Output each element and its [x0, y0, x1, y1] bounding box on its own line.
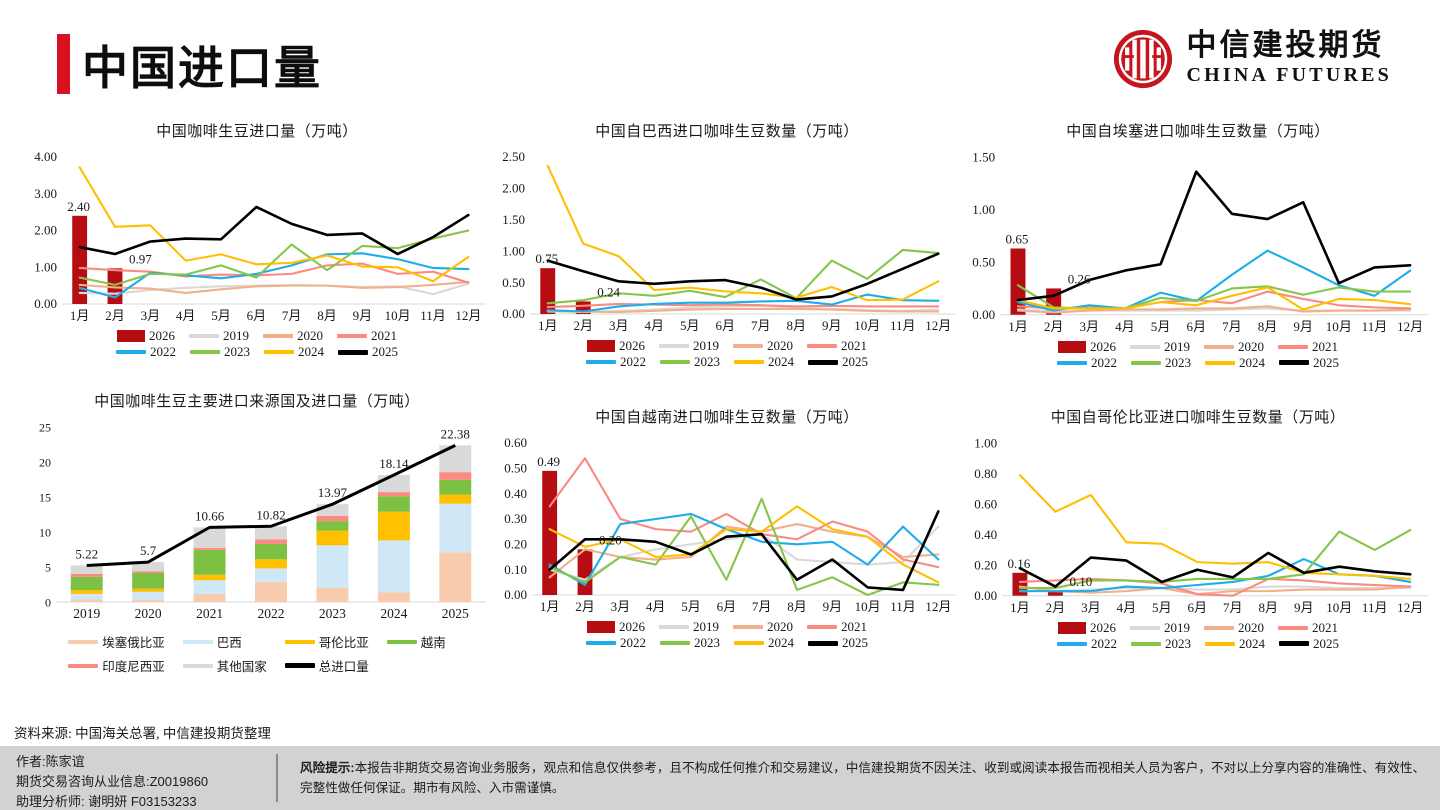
svg-text:12月: 12月 — [1397, 600, 1423, 615]
legend-item-2021[interactable]: 2021 — [807, 338, 867, 354]
svg-text:8月: 8月 — [787, 599, 807, 614]
svg-text:12月: 12月 — [925, 599, 951, 614]
svg-text:12月: 12月 — [455, 308, 481, 323]
legend-label: 2023 — [694, 635, 720, 651]
svg-text:0.20: 0.20 — [599, 532, 622, 547]
logo-text-cn: 中信建投期货 — [1186, 30, 1384, 62]
svg-text:2月: 2月 — [1044, 319, 1064, 334]
svg-text:0.10: 0.10 — [1069, 574, 1092, 589]
legend-item-brazil[interactable]: 巴西 — [183, 632, 267, 651]
svg-text:0.40: 0.40 — [504, 486, 527, 501]
chart-svg: 0.000.200.400.600.801.000.160.101月2月3月4月… — [962, 429, 1434, 620]
legend-item-2026[interactable]: 2026 — [1058, 339, 1116, 355]
chart-title: 中国自巴西进口咖啡生豆数量（万吨） — [492, 120, 962, 141]
legend-swatch-2020 — [733, 625, 763, 629]
legend-item-2022[interactable]: 2022 — [1057, 355, 1117, 371]
legend-label: 2020 — [1238, 339, 1264, 355]
legend-swatch-2021 — [337, 334, 367, 338]
legend-item-2020[interactable]: 2020 — [1204, 620, 1264, 636]
legend-swatch-2025 — [338, 350, 368, 355]
legend-swatch-ethiopia — [68, 640, 98, 644]
legend-swatch-2024 — [264, 350, 294, 354]
legend-label: 2025 — [842, 354, 868, 370]
svg-text:0.20: 0.20 — [504, 537, 527, 552]
svg-text:10月: 10月 — [1326, 319, 1352, 334]
legend-swatch-2021 — [1278, 345, 1308, 349]
legend-swatch-2024 — [734, 360, 764, 364]
svg-text:3.00: 3.00 — [34, 186, 57, 201]
charts-grid: 中国咖啡生豆进口量（万吨） 0.001.002.003.004.002.400.… — [0, 118, 1440, 710]
svg-text:0.16: 0.16 — [1007, 556, 1030, 571]
svg-text:1.50: 1.50 — [502, 212, 525, 227]
svg-text:6月: 6月 — [717, 599, 737, 614]
svg-text:8月: 8月 — [1258, 319, 1278, 334]
chart-imports-from-ethiopia: 中国自埃塞进口咖啡生豆数量（万吨） 0.000.501.001.500.650.… — [962, 120, 1434, 388]
svg-text:13.97: 13.97 — [318, 485, 348, 500]
svg-text:1月: 1月 — [1010, 600, 1030, 615]
svg-text:9月: 9月 — [1293, 319, 1313, 334]
svg-text:2021: 2021 — [196, 606, 223, 621]
legend-swatch-2020 — [1204, 626, 1234, 630]
svg-text:5月: 5月 — [1151, 319, 1171, 334]
svg-text:0.80: 0.80 — [974, 466, 997, 481]
legend-item-2020[interactable]: 2020 — [263, 328, 323, 344]
svg-text:3月: 3月 — [609, 318, 629, 333]
svg-text:6月: 6月 — [715, 318, 735, 333]
page-title: 中国进口量 — [82, 32, 322, 98]
svg-text:10月: 10月 — [855, 599, 881, 614]
legend-label: 2020 — [1238, 620, 1264, 636]
svg-text:5月: 5月 — [680, 318, 700, 333]
legend-item-2019[interactable]: 2019 — [1130, 620, 1190, 636]
legend-label: 巴西 — [217, 632, 242, 651]
svg-text:4月: 4月 — [644, 318, 664, 333]
svg-text:4月: 4月 — [1117, 600, 1137, 615]
svg-text:2.00: 2.00 — [502, 181, 525, 196]
legend-item-2025[interactable]: 2025 — [1279, 636, 1339, 652]
svg-text:3月: 3月 — [611, 599, 631, 614]
svg-text:0.00: 0.00 — [502, 306, 525, 321]
legend-swatch-2022 — [1057, 361, 1087, 365]
legend-swatch-2021 — [807, 344, 837, 348]
chart-plot-area: 05101520255.225.710.6610.8213.9718.1422.… — [22, 413, 492, 628]
chart-svg: 0.001.002.003.004.002.400.971月2月3月4月5月6月… — [22, 143, 492, 328]
legend-swatch-brazil — [183, 640, 213, 644]
legend-swatch-2026 — [587, 340, 615, 352]
legend-swatch-2026 — [1058, 341, 1086, 353]
svg-text:0: 0 — [45, 596, 51, 610]
legend-swatch-2026 — [587, 621, 615, 633]
svg-text:9月: 9月 — [353, 308, 373, 323]
svg-text:11月: 11月 — [1362, 319, 1388, 334]
legend-item-2022[interactable]: 2022 — [586, 635, 646, 651]
legend-item-2024[interactable]: 2024 — [264, 344, 324, 360]
svg-text:0.10: 0.10 — [504, 562, 527, 577]
legend-item-2024[interactable]: 2024 — [1205, 355, 1265, 371]
legend-item-vietnam[interactable]: 越南 — [387, 632, 446, 651]
legend-label: 2022 — [620, 635, 646, 651]
chart-plot-area: 0.000.501.001.502.002.500.750.241月2月3月4月… — [492, 143, 962, 338]
legend-swatch-others — [183, 664, 213, 668]
chart-plot-area: 0.001.002.003.004.002.400.971月2月3月4月5月6月… — [22, 143, 492, 328]
chart-imports-from-brazil: 中国自巴西进口咖啡生豆数量（万吨） 0.000.501.001.502.002.… — [492, 120, 962, 388]
legend-item-2020[interactable]: 2020 — [1204, 339, 1264, 355]
svg-text:0.50: 0.50 — [502, 275, 525, 290]
svg-text:0.49: 0.49 — [537, 454, 560, 469]
legend-item-2021[interactable]: 2021 — [1278, 620, 1338, 636]
legend-swatch-2019 — [1130, 626, 1160, 630]
chart-title: 中国咖啡生豆进口量（万吨） — [22, 120, 492, 141]
svg-text:10月: 10月 — [385, 308, 411, 323]
svg-text:10.82: 10.82 — [256, 507, 285, 522]
legend-item-2025[interactable]: 2025 — [808, 635, 868, 651]
svg-text:11月: 11月 — [890, 599, 916, 614]
chart-plot-area: 0.000.100.200.300.400.500.600.490.201月2月… — [492, 429, 962, 619]
legend-swatch-2021 — [1278, 626, 1308, 630]
legend-item-2022[interactable]: 2022 — [116, 344, 176, 360]
svg-text:4月: 4月 — [176, 308, 196, 323]
legend-label: 2021 — [1312, 620, 1338, 636]
legend-label: 哥伦比亚 — [319, 632, 369, 651]
svg-text:2025: 2025 — [442, 606, 469, 621]
legend-swatch-2026 — [1058, 622, 1086, 634]
legend-label: 2019 — [1164, 620, 1190, 636]
legend-item-2023[interactable]: 2023 — [190, 344, 250, 360]
legend-row: 2022202320242025 — [1050, 355, 1346, 371]
legend-swatch-2022 — [586, 360, 616, 364]
svg-text:12月: 12月 — [1397, 319, 1423, 334]
legend-row: 2026201920202021 — [1051, 620, 1345, 636]
svg-text:10.66: 10.66 — [195, 508, 225, 523]
legend-label: 2020 — [767, 338, 793, 354]
svg-text:2月: 2月 — [573, 318, 593, 333]
legend-label: 2022 — [1091, 355, 1117, 371]
legend-label: 2022 — [620, 354, 646, 370]
svg-text:6月: 6月 — [1188, 600, 1208, 615]
legend-item-indonesia[interactable]: 印度尼西亚 — [68, 656, 165, 675]
legend-item-2023[interactable]: 2023 — [660, 635, 720, 651]
legend-label: 2019 — [693, 619, 719, 635]
legend-row: 2026201920202021 — [580, 619, 874, 635]
risk-disclaimer: 风险提示:本报告非期货交易咨询业务服务，观点和信息仅供参考，且不构成任何推介和交… — [300, 758, 1428, 798]
legend-item-2023[interactable]: 2023 — [1131, 636, 1191, 652]
legend-item-2026[interactable]: 2026 — [587, 619, 645, 635]
svg-text:11月: 11月 — [1362, 600, 1388, 615]
svg-text:0.20: 0.20 — [974, 557, 997, 572]
legend-label: 2025 — [1313, 636, 1339, 652]
legend-item-2025[interactable]: 2025 — [1279, 355, 1339, 371]
legend-item-2023[interactable]: 2023 — [1131, 355, 1191, 371]
chart-main-origin-countries-stacked: 中国咖啡生豆主要进口来源国及进口量（万吨） 05101520255.225.71… — [22, 390, 492, 690]
legend-label: 2026 — [619, 619, 645, 635]
legend-label: 2023 — [224, 344, 250, 360]
legend-item-2022[interactable]: 2022 — [586, 354, 646, 370]
legend-label: 总进口量 — [319, 656, 369, 675]
chart-imports-from-vietnam: 中国自越南进口咖啡生豆数量（万吨） 0.000.100.200.300.400.… — [492, 406, 962, 671]
legend-swatch-2020 — [733, 344, 763, 348]
assistant-analyst: 助理分析师: 谢明妍 F03153233 — [16, 792, 208, 810]
svg-text:9月: 9月 — [1294, 600, 1314, 615]
legend-item-2026[interactable]: 2026 — [587, 338, 645, 354]
legend-swatch-2023 — [190, 350, 220, 354]
legend-label: 2025 — [372, 344, 398, 360]
svg-text:0.97: 0.97 — [129, 251, 152, 266]
svg-text:2022: 2022 — [258, 606, 285, 621]
svg-text:0.40: 0.40 — [974, 527, 997, 542]
svg-text:5: 5 — [45, 561, 51, 575]
slide-footer: 作者:陈家谊 期货交易咨询从业信息:Z0019860 助理分析师: 谢明妍 F0… — [0, 746, 1440, 810]
svg-text:1.50: 1.50 — [972, 149, 995, 164]
legend-item-ethiopia[interactable]: 埃塞俄比亚 — [68, 632, 165, 651]
svg-text:18.14: 18.14 — [379, 456, 409, 471]
citic-logo-icon — [1112, 28, 1174, 90]
legend-label: 2025 — [1313, 355, 1339, 371]
svg-text:7月: 7月 — [751, 318, 771, 333]
chart-svg: 0.000.501.001.502.002.500.750.241月2月3月4月… — [492, 143, 962, 338]
legend-item-2026[interactable]: 2026 — [1058, 620, 1116, 636]
legend-label: 2026 — [619, 338, 645, 354]
svg-text:5.22: 5.22 — [75, 546, 98, 561]
legend-label: 2025 — [842, 635, 868, 651]
legend-swatch-indonesia — [68, 664, 98, 668]
legend-swatch-2020 — [263, 334, 293, 338]
legend-swatch-2019 — [659, 344, 689, 348]
svg-text:0.00: 0.00 — [34, 296, 57, 311]
chart-svg: 0.000.501.001.500.650.261月2月3月4月5月6月7月8月… — [962, 143, 1434, 339]
svg-text:3月: 3月 — [1081, 600, 1101, 615]
title-accent-bar — [57, 34, 70, 94]
legend-label: 其他国家 — [217, 656, 267, 675]
legend-item-2024[interactable]: 2024 — [1205, 636, 1265, 652]
legend-item-colombia[interactable]: 哥伦比亚 — [285, 632, 369, 651]
risk-label: 风险提示: — [300, 761, 355, 775]
legend-label: 越南 — [421, 632, 446, 651]
legend-item-2025[interactable]: 2025 — [808, 354, 868, 370]
svg-text:6月: 6月 — [247, 308, 267, 323]
legend-item-2023[interactable]: 2023 — [660, 354, 720, 370]
footer-divider — [276, 754, 278, 802]
legend-label: 2024 — [1239, 355, 1265, 371]
svg-text:8月: 8月 — [786, 318, 806, 333]
chart-plot-area: 0.000.200.400.600.801.000.160.101月2月3月4月… — [962, 429, 1434, 620]
legend-swatch-2025 — [808, 360, 838, 365]
legend-item-2026[interactable]: 2026 — [117, 328, 175, 344]
svg-text:20: 20 — [39, 456, 51, 470]
svg-text:2月: 2月 — [575, 599, 595, 614]
legend-swatch-2024 — [1205, 361, 1235, 365]
svg-text:7月: 7月 — [282, 308, 302, 323]
chart-china-coffee-green-bean-imports: 中国咖啡生豆进口量（万吨） 0.001.002.003.004.002.400.… — [22, 120, 492, 370]
legend-swatch-2023 — [660, 360, 690, 364]
svg-text:5月: 5月 — [211, 308, 231, 323]
svg-text:2023: 2023 — [319, 606, 346, 621]
svg-text:5.7: 5.7 — [140, 543, 157, 558]
svg-text:0.00: 0.00 — [972, 307, 995, 322]
legend-label: 2021 — [1312, 339, 1338, 355]
legend-swatch-2023 — [660, 641, 690, 645]
legend-label: 2022 — [1091, 636, 1117, 652]
legend-row: 2026201920202021 — [580, 338, 874, 354]
legend-swatch-2026 — [117, 330, 145, 342]
svg-text:0.75: 0.75 — [535, 251, 558, 266]
legend-row: 2022202320242025 — [109, 344, 405, 360]
chart-title: 中国自埃塞进口咖啡生豆数量（万吨） — [962, 120, 1434, 141]
svg-text:1月: 1月 — [70, 308, 90, 323]
legend-item-2020[interactable]: 2020 — [733, 619, 793, 635]
svg-text:25: 25 — [39, 421, 51, 435]
svg-text:8月: 8月 — [317, 308, 337, 323]
legend-row: 2022202320242025 — [1050, 636, 1346, 652]
legend-swatch-2020 — [1204, 345, 1234, 349]
svg-text:0.60: 0.60 — [974, 496, 997, 511]
legend-swatch-2023 — [1131, 361, 1161, 365]
legend-row: 2026201920202021 — [1051, 339, 1345, 355]
author-name: 作者:陈家谊 — [16, 752, 208, 772]
legend-label: 2023 — [694, 354, 720, 370]
chart-legend: 20262019202020212022202320242025 — [492, 338, 962, 370]
legend-swatch-2022 — [116, 350, 146, 354]
legend-label: 2024 — [768, 635, 794, 651]
svg-text:1.00: 1.00 — [974, 435, 997, 450]
svg-text:3月: 3月 — [141, 308, 161, 323]
svg-text:0.00: 0.00 — [974, 588, 997, 603]
chart-title: 中国自哥伦比亚进口咖啡生豆数量（万吨） — [962, 406, 1434, 427]
legend-label: 2024 — [768, 354, 794, 370]
legend-swatch-2019 — [1130, 345, 1160, 349]
svg-text:4.00: 4.00 — [34, 149, 57, 164]
legend-swatch-2022 — [1057, 642, 1087, 646]
chart-svg: 05101520255.225.710.6610.8213.9718.1422.… — [22, 413, 492, 628]
legend-swatch-vietnam — [387, 640, 417, 644]
legend-label: 2019 — [693, 338, 719, 354]
svg-text:6月: 6月 — [1186, 319, 1206, 334]
legend-item-2025[interactable]: 2025 — [338, 344, 398, 360]
svg-text:2024: 2024 — [380, 606, 407, 621]
svg-text:9月: 9月 — [823, 599, 843, 614]
legend-row: 2022202320242025 — [579, 635, 875, 651]
chart-legend: 20262019202020212022202320242025 — [492, 619, 962, 651]
svg-text:2.40: 2.40 — [67, 199, 90, 214]
svg-text:1月: 1月 — [1008, 319, 1028, 334]
chart-legend: 20262019202020212022202320242025 — [22, 328, 492, 360]
legend-label: 2019 — [223, 328, 249, 344]
svg-text:0.50: 0.50 — [972, 254, 995, 269]
legend-row: 2022202320242025 — [579, 354, 875, 370]
legend-label: 2022 — [150, 344, 176, 360]
chart-plot-area: 0.000.501.001.500.650.261月2月3月4月5月6月7月8月… — [962, 143, 1434, 339]
legend-swatch-2025 — [1279, 641, 1309, 646]
legend-item-2024[interactable]: 2024 — [734, 635, 794, 651]
svg-text:0.24: 0.24 — [597, 284, 620, 299]
legend-item-2022[interactable]: 2022 — [1057, 636, 1117, 652]
svg-text:0.00: 0.00 — [504, 587, 527, 602]
legend-swatch-2025 — [1279, 360, 1309, 365]
legend-swatch-total — [285, 663, 315, 668]
source-note: 资料来源: 中国海关总署, 中信建投期货整理 — [14, 722, 271, 742]
svg-text:2.50: 2.50 — [502, 149, 525, 164]
legend-swatch-2019 — [659, 625, 689, 629]
svg-text:22.38: 22.38 — [441, 426, 470, 441]
legend-label: 2021 — [841, 619, 867, 635]
svg-text:2019: 2019 — [73, 606, 100, 621]
svg-text:3月: 3月 — [1080, 319, 1100, 334]
legend-swatch-2024 — [1205, 642, 1235, 646]
legend-item-2019[interactable]: 2019 — [189, 328, 249, 344]
legend-label: 2024 — [298, 344, 324, 360]
svg-text:5月: 5月 — [1152, 600, 1172, 615]
svg-text:1.00: 1.00 — [34, 259, 57, 274]
legend-label: 2026 — [1090, 620, 1116, 636]
svg-text:10月: 10月 — [1326, 600, 1352, 615]
legend-label: 2026 — [149, 328, 175, 344]
svg-text:10: 10 — [39, 526, 51, 540]
chart-title: 中国自越南进口咖啡生豆数量（万吨） — [492, 406, 962, 427]
chart-legend: 20262019202020212022202320242025 — [962, 620, 1434, 652]
logo-wordmark: 中信建投期货 CHINA FUTURES — [1186, 30, 1392, 87]
legend-label: 2021 — [841, 338, 867, 354]
chart-imports-from-colombia: 中国自哥伦比亚进口咖啡生豆数量（万吨） 0.000.200.400.600.80… — [962, 406, 1434, 671]
legend-item-2020[interactable]: 2020 — [733, 338, 793, 354]
legend-item-2019[interactable]: 2019 — [659, 619, 719, 635]
legend-item-2019[interactable]: 2019 — [1130, 339, 1190, 355]
chart-title: 中国咖啡生豆主要进口来源国及进口量（万吨） — [22, 390, 492, 411]
risk-text: 本报告非期货交易咨询业务服务，观点和信息仅供参考，且不构成任何推介和交易建议，中… — [300, 761, 1425, 795]
svg-text:5月: 5月 — [681, 599, 701, 614]
author-block: 作者:陈家谊 期货交易咨询从业信息:Z0019860 助理分析师: 谢明妍 F0… — [16, 752, 208, 810]
svg-text:7月: 7月 — [1223, 600, 1243, 615]
legend-swatch-2025 — [808, 641, 838, 646]
svg-text:1.00: 1.00 — [972, 202, 995, 217]
legend-label: 2023 — [1165, 355, 1191, 371]
svg-text:8月: 8月 — [1259, 600, 1279, 615]
legend-label: 2020 — [297, 328, 323, 344]
svg-text:2.00: 2.00 — [34, 223, 57, 238]
slide-root: 中国进口量 中信建投期货 CHINA FUTURES — [0, 0, 1440, 810]
svg-text:12月: 12月 — [925, 318, 951, 333]
legend-item-2024[interactable]: 2024 — [734, 354, 794, 370]
legend-swatch-2023 — [1131, 642, 1161, 646]
legend-row: 2026201920202021 — [110, 328, 404, 344]
legend-swatch-2021 — [807, 625, 837, 629]
svg-text:0.50: 0.50 — [504, 461, 527, 476]
slide-header: 中国进口量 中信建投期货 CHINA FUTURES — [0, 0, 1440, 118]
legend-item-others[interactable]: 其他国家 — [183, 656, 267, 675]
svg-text:15: 15 — [39, 491, 51, 505]
legend-label: 印度尼西亚 — [102, 656, 165, 675]
svg-text:11月: 11月 — [890, 318, 916, 333]
legend-item-2021[interactable]: 2021 — [1278, 339, 1338, 355]
chart-svg: 0.000.100.200.300.400.500.600.490.201月2月… — [492, 429, 962, 619]
svg-text:10月: 10月 — [854, 318, 880, 333]
legend-swatch-colombia — [285, 640, 315, 644]
svg-text:0.65: 0.65 — [1006, 231, 1029, 246]
legend-item-2019[interactable]: 2019 — [659, 338, 719, 354]
legend-label: 2024 — [1239, 636, 1265, 652]
svg-text:2020: 2020 — [135, 606, 162, 621]
svg-text:4月: 4月 — [646, 599, 666, 614]
svg-text:1月: 1月 — [538, 318, 558, 333]
legend-label: 2020 — [767, 619, 793, 635]
svg-text:0.26: 0.26 — [1068, 271, 1091, 286]
legend-swatch-2024 — [734, 641, 764, 645]
legend-item-total[interactable]: 总进口量 — [285, 656, 369, 675]
author-license: 期货交易咨询从业信息:Z0019860 — [16, 772, 208, 792]
legend-label: 2019 — [1164, 339, 1190, 355]
legend-item-2021[interactable]: 2021 — [807, 619, 867, 635]
svg-text:1月: 1月 — [540, 599, 560, 614]
svg-text:0.60: 0.60 — [504, 435, 527, 450]
legend-item-2021[interactable]: 2021 — [337, 328, 397, 344]
